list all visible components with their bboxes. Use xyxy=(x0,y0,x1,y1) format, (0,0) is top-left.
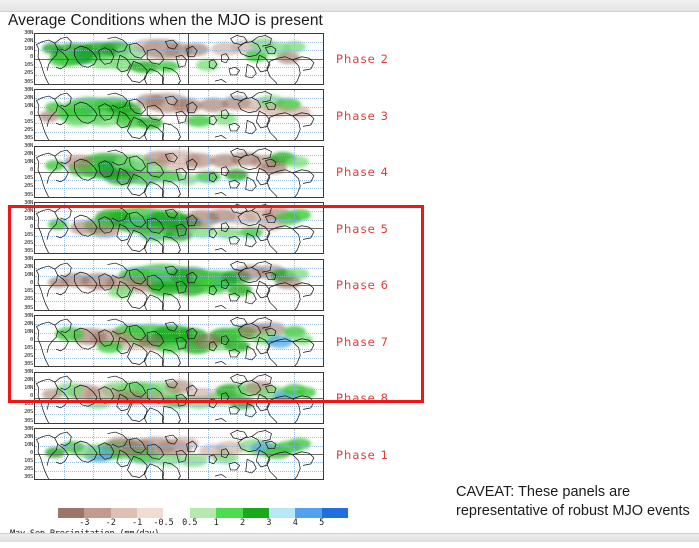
colorbar-segment xyxy=(84,508,110,518)
phase-label-phase-4: Phase 4 xyxy=(336,165,389,179)
window-chrome-top xyxy=(0,0,699,12)
y-axis-tick: 20N xyxy=(24,378,33,383)
y-axis-tick: 20N xyxy=(24,39,33,44)
colorbar-segment xyxy=(322,508,348,518)
colorbar-tick-label: -2 xyxy=(106,518,116,528)
colorbar-tick-label: -1 xyxy=(132,518,142,528)
colorbar-tick-label: -0.5 xyxy=(153,518,173,528)
y-axis-tick: 0 xyxy=(30,394,33,399)
y-axis-tick: 30N xyxy=(24,88,33,93)
y-axis-tick: 10S xyxy=(24,176,33,181)
colorbar: -3-2-1-0.50.512345 May-Sep Precipitation… xyxy=(0,508,440,548)
phase-map xyxy=(34,202,324,254)
phase-panel-row: 30N20N10N010S20S30S xyxy=(0,313,340,368)
y-axis-tick: 10N xyxy=(24,443,33,448)
y-axis-tick: 20N xyxy=(24,209,33,214)
phase-panel-row: 30N20N10N010S20S30S xyxy=(0,256,340,311)
colorbar-ticks: -3-2-1-0.50.512345 xyxy=(58,518,348,529)
y-axis-tick: 20S xyxy=(24,71,33,76)
y-axis-tick: 10N xyxy=(24,217,33,222)
phase-label-phase-1: Phase 1 xyxy=(336,448,389,462)
y-axis-tick: 30N xyxy=(24,201,33,206)
phase-panel-row: 30N20N10N010S20S30S xyxy=(0,87,340,142)
panel-y-axis: 30N20N10N010S20S30S xyxy=(0,313,34,368)
phase-panel-row: 30N20N10N010S20S30S xyxy=(0,30,340,85)
phase-label-phase-6: Phase 6 xyxy=(336,278,389,292)
y-axis-tick: 20S xyxy=(24,354,33,359)
colorbar-segment xyxy=(295,508,321,518)
colorbar-segment xyxy=(111,508,137,518)
colorbar-segment xyxy=(243,508,269,518)
phase-panel-row: 30N20N10N010S20S30S xyxy=(0,426,340,481)
phase-map xyxy=(34,89,324,141)
phase-map xyxy=(34,372,324,424)
panel-y-axis: 30N20N10N010S20S30S xyxy=(0,200,34,255)
phase-panel-row: 30N20N10N010S20S30S xyxy=(0,143,340,198)
y-axis-tick: 10N xyxy=(24,330,33,335)
y-axis-tick: 20S xyxy=(24,297,33,302)
page-title: Average Conditions when the MJO is prese… xyxy=(8,12,323,30)
y-axis-tick: 0 xyxy=(30,225,33,230)
y-axis-tick: 10S xyxy=(24,402,33,407)
y-axis-tick: 0 xyxy=(30,338,33,343)
y-axis-tick: 30S xyxy=(24,362,33,367)
mjo-phase-figure: 30N20N10N010S20S30SPhase 230N20N10N010S2… xyxy=(0,30,440,535)
panel-y-axis: 30N20N10N010S20S30S xyxy=(0,369,34,424)
y-axis-tick: 10S xyxy=(24,120,33,125)
y-axis-tick: 10S xyxy=(24,459,33,464)
y-axis-tick: 10N xyxy=(24,273,33,278)
phase-map xyxy=(34,33,324,85)
colorbar-segment xyxy=(190,508,216,518)
y-axis-tick: 30N xyxy=(24,257,33,262)
y-axis-tick: 10S xyxy=(24,63,33,68)
coastline-overlay xyxy=(35,203,323,254)
y-axis-tick: 10N xyxy=(24,160,33,165)
colorbar-tick-label: -3 xyxy=(79,518,89,528)
colorbar-tick-label: 1 xyxy=(214,518,219,528)
coastline-overlay xyxy=(35,147,323,198)
caveat-text: CAVEAT: These panels are representative … xyxy=(456,483,694,521)
y-axis-tick: 0 xyxy=(30,55,33,60)
y-axis-tick: 20S xyxy=(24,241,33,246)
y-axis-tick: 20N xyxy=(24,96,33,101)
y-axis-tick: 20N xyxy=(24,322,33,327)
panel-y-axis: 30N20N10N010S20S30S xyxy=(0,87,34,142)
phase-panel-row: 30N20N10N010S20S30S xyxy=(0,369,340,424)
y-axis-tick: 10S xyxy=(24,346,33,351)
colorbar-swatches xyxy=(58,508,348,518)
panel-y-axis: 30N20N10N010S20S30S xyxy=(0,426,34,481)
y-axis-tick: 30S xyxy=(24,193,33,198)
panel-y-axis: 30N20N10N010S20S30S xyxy=(0,256,34,311)
coastline-overlay xyxy=(35,316,323,367)
colorbar-segment xyxy=(269,508,295,518)
phase-label-phase-8: Phase 8 xyxy=(336,391,389,405)
phase-label-phase-3: Phase 3 xyxy=(336,109,389,123)
phase-map xyxy=(34,315,324,367)
y-axis-tick: 30N xyxy=(24,144,33,149)
coastline-overlay xyxy=(35,34,323,85)
y-axis-tick: 30N xyxy=(24,427,33,432)
colorbar-tick-label: 0.5 xyxy=(182,518,197,528)
y-axis-tick: 10S xyxy=(24,289,33,294)
y-axis-tick: 20N xyxy=(24,435,33,440)
y-axis-tick: 30S xyxy=(24,80,33,85)
phase-map xyxy=(34,146,324,198)
y-axis-tick: 30S xyxy=(24,419,33,424)
y-axis-tick: 10N xyxy=(24,47,33,52)
window-chrome-bottom xyxy=(0,533,699,542)
coastline-overlay xyxy=(35,90,323,141)
panel-y-axis: 30N20N10N010S20S30S xyxy=(0,143,34,198)
phase-label-phase-5: Phase 5 xyxy=(336,222,389,236)
phase-map xyxy=(34,428,324,480)
colorbar-tick-label: 3 xyxy=(266,518,271,528)
y-axis-tick: 30S xyxy=(24,136,33,141)
y-axis-tick: 30S xyxy=(24,249,33,254)
colorbar-segment xyxy=(58,508,84,518)
panel-y-axis: 30N20N10N010S20S30S xyxy=(0,30,34,85)
colorbar-tick-label: 2 xyxy=(240,518,245,528)
y-axis-tick: 30S xyxy=(24,475,33,480)
colorbar-segment xyxy=(137,508,163,518)
y-axis-tick: 20S xyxy=(24,410,33,415)
colorbar-segment xyxy=(216,508,242,518)
y-axis-tick: 0 xyxy=(30,112,33,117)
coastline-overlay xyxy=(35,260,323,311)
y-axis-tick: 20N xyxy=(24,152,33,157)
y-axis-tick: 20S xyxy=(24,128,33,133)
phase-panel-row: 30N20N10N010S20S30S xyxy=(0,200,340,255)
colorbar-segment xyxy=(163,508,189,518)
y-axis-tick: 30N xyxy=(24,314,33,319)
y-axis-tick: 10N xyxy=(24,386,33,391)
phase-label-phase-7: Phase 7 xyxy=(336,335,389,349)
colorbar-tick-label: 4 xyxy=(293,518,298,528)
colorbar-tick-label: 5 xyxy=(319,518,324,528)
y-axis-tick: 30S xyxy=(24,306,33,311)
y-axis-tick: 10N xyxy=(24,104,33,109)
coastline-overlay xyxy=(35,429,323,480)
y-axis-tick: 0 xyxy=(30,281,33,286)
y-axis-tick: 0 xyxy=(30,451,33,456)
y-axis-tick: 20N xyxy=(24,265,33,270)
y-axis-tick: 20S xyxy=(24,467,33,472)
y-axis-tick: 20S xyxy=(24,184,33,189)
y-axis-tick: 0 xyxy=(30,168,33,173)
slide-root: Average Conditions when the MJO is prese… xyxy=(0,0,699,542)
phase-label-phase-2: Phase 2 xyxy=(336,52,389,66)
coastline-overlay xyxy=(35,373,323,424)
phase-map xyxy=(34,259,324,311)
y-axis-tick: 30N xyxy=(24,370,33,375)
y-axis-tick: 30N xyxy=(24,31,33,36)
y-axis-tick: 10S xyxy=(24,233,33,238)
